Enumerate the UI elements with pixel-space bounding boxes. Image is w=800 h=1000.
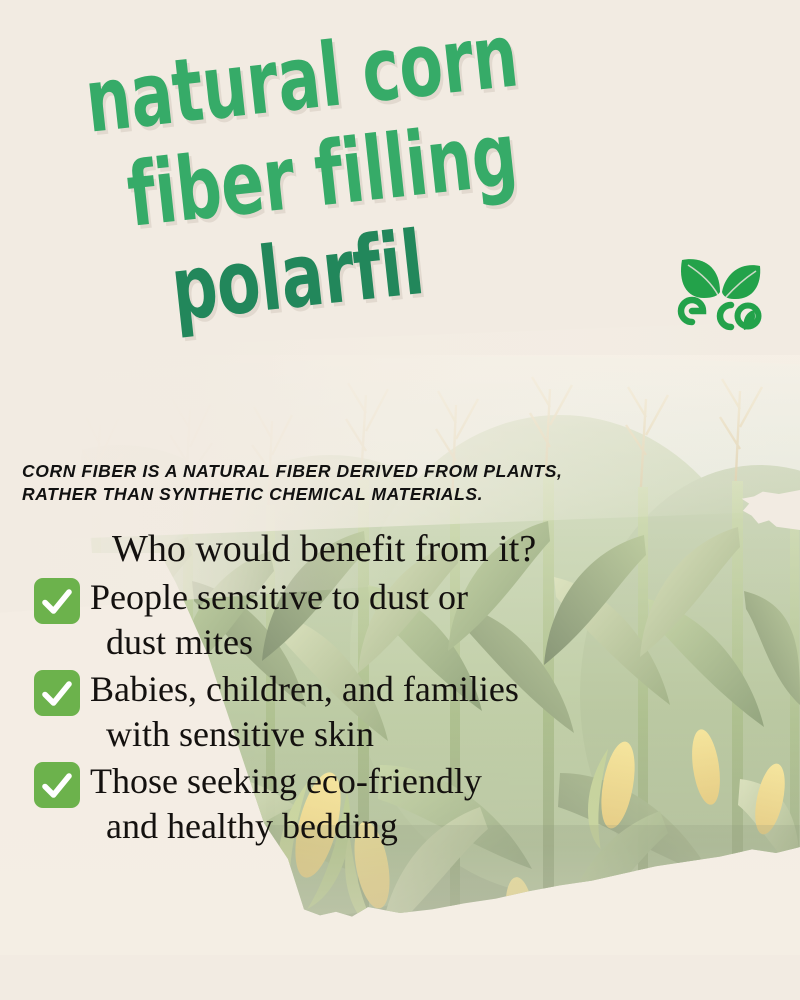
benefit-list: People sensitive to dust or dust mites B… <box>28 575 748 851</box>
intro-blurb: CORN FIBER IS A NATURAL FIBER DERIVED FR… <box>22 460 622 506</box>
checkmark-icon <box>34 762 80 808</box>
benefit-question: Who would benefit from it? <box>112 530 536 570</box>
list-item: People sensitive to dust or dust mites <box>28 575 748 665</box>
intro-blurb-line-1: CORN FIBER IS A NATURAL FIBER DERIVED FR… <box>22 461 562 481</box>
poster-canvas: natural corn fiber filling polarfil CORN… <box>0 0 800 1000</box>
list-item-line-2: and healthy bedding <box>90 804 748 849</box>
list-item-line-1: Those seeking eco-friendly <box>90 761 482 801</box>
list-item-text: Babies, children, and families with sens… <box>90 667 748 757</box>
brand-name-polarfil: polarfil <box>167 219 427 334</box>
eco-wordmark <box>681 300 759 330</box>
list-item-line-2: with sensitive skin <box>90 712 748 757</box>
checkmark-icon <box>34 670 80 716</box>
list-item-line-1: Babies, children, and families <box>90 669 519 709</box>
checkmark-icon <box>34 578 80 624</box>
list-item-text: People sensitive to dust or dust mites <box>90 575 748 665</box>
intro-blurb-line-2: RATHER THAN SYNTHETIC CHEMICAL MATERIALS… <box>22 484 483 504</box>
list-item-line-1: People sensitive to dust or <box>90 577 468 617</box>
eco-badge <box>676 252 768 336</box>
list-item: Those seeking eco-friendly and healthy b… <box>28 759 748 849</box>
list-item: Babies, children, and families with sens… <box>28 667 748 757</box>
list-item-text: Those seeking eco-friendly and healthy b… <box>90 759 748 849</box>
leaf-icon <box>681 259 760 299</box>
list-item-line-2: dust mites <box>90 620 748 665</box>
